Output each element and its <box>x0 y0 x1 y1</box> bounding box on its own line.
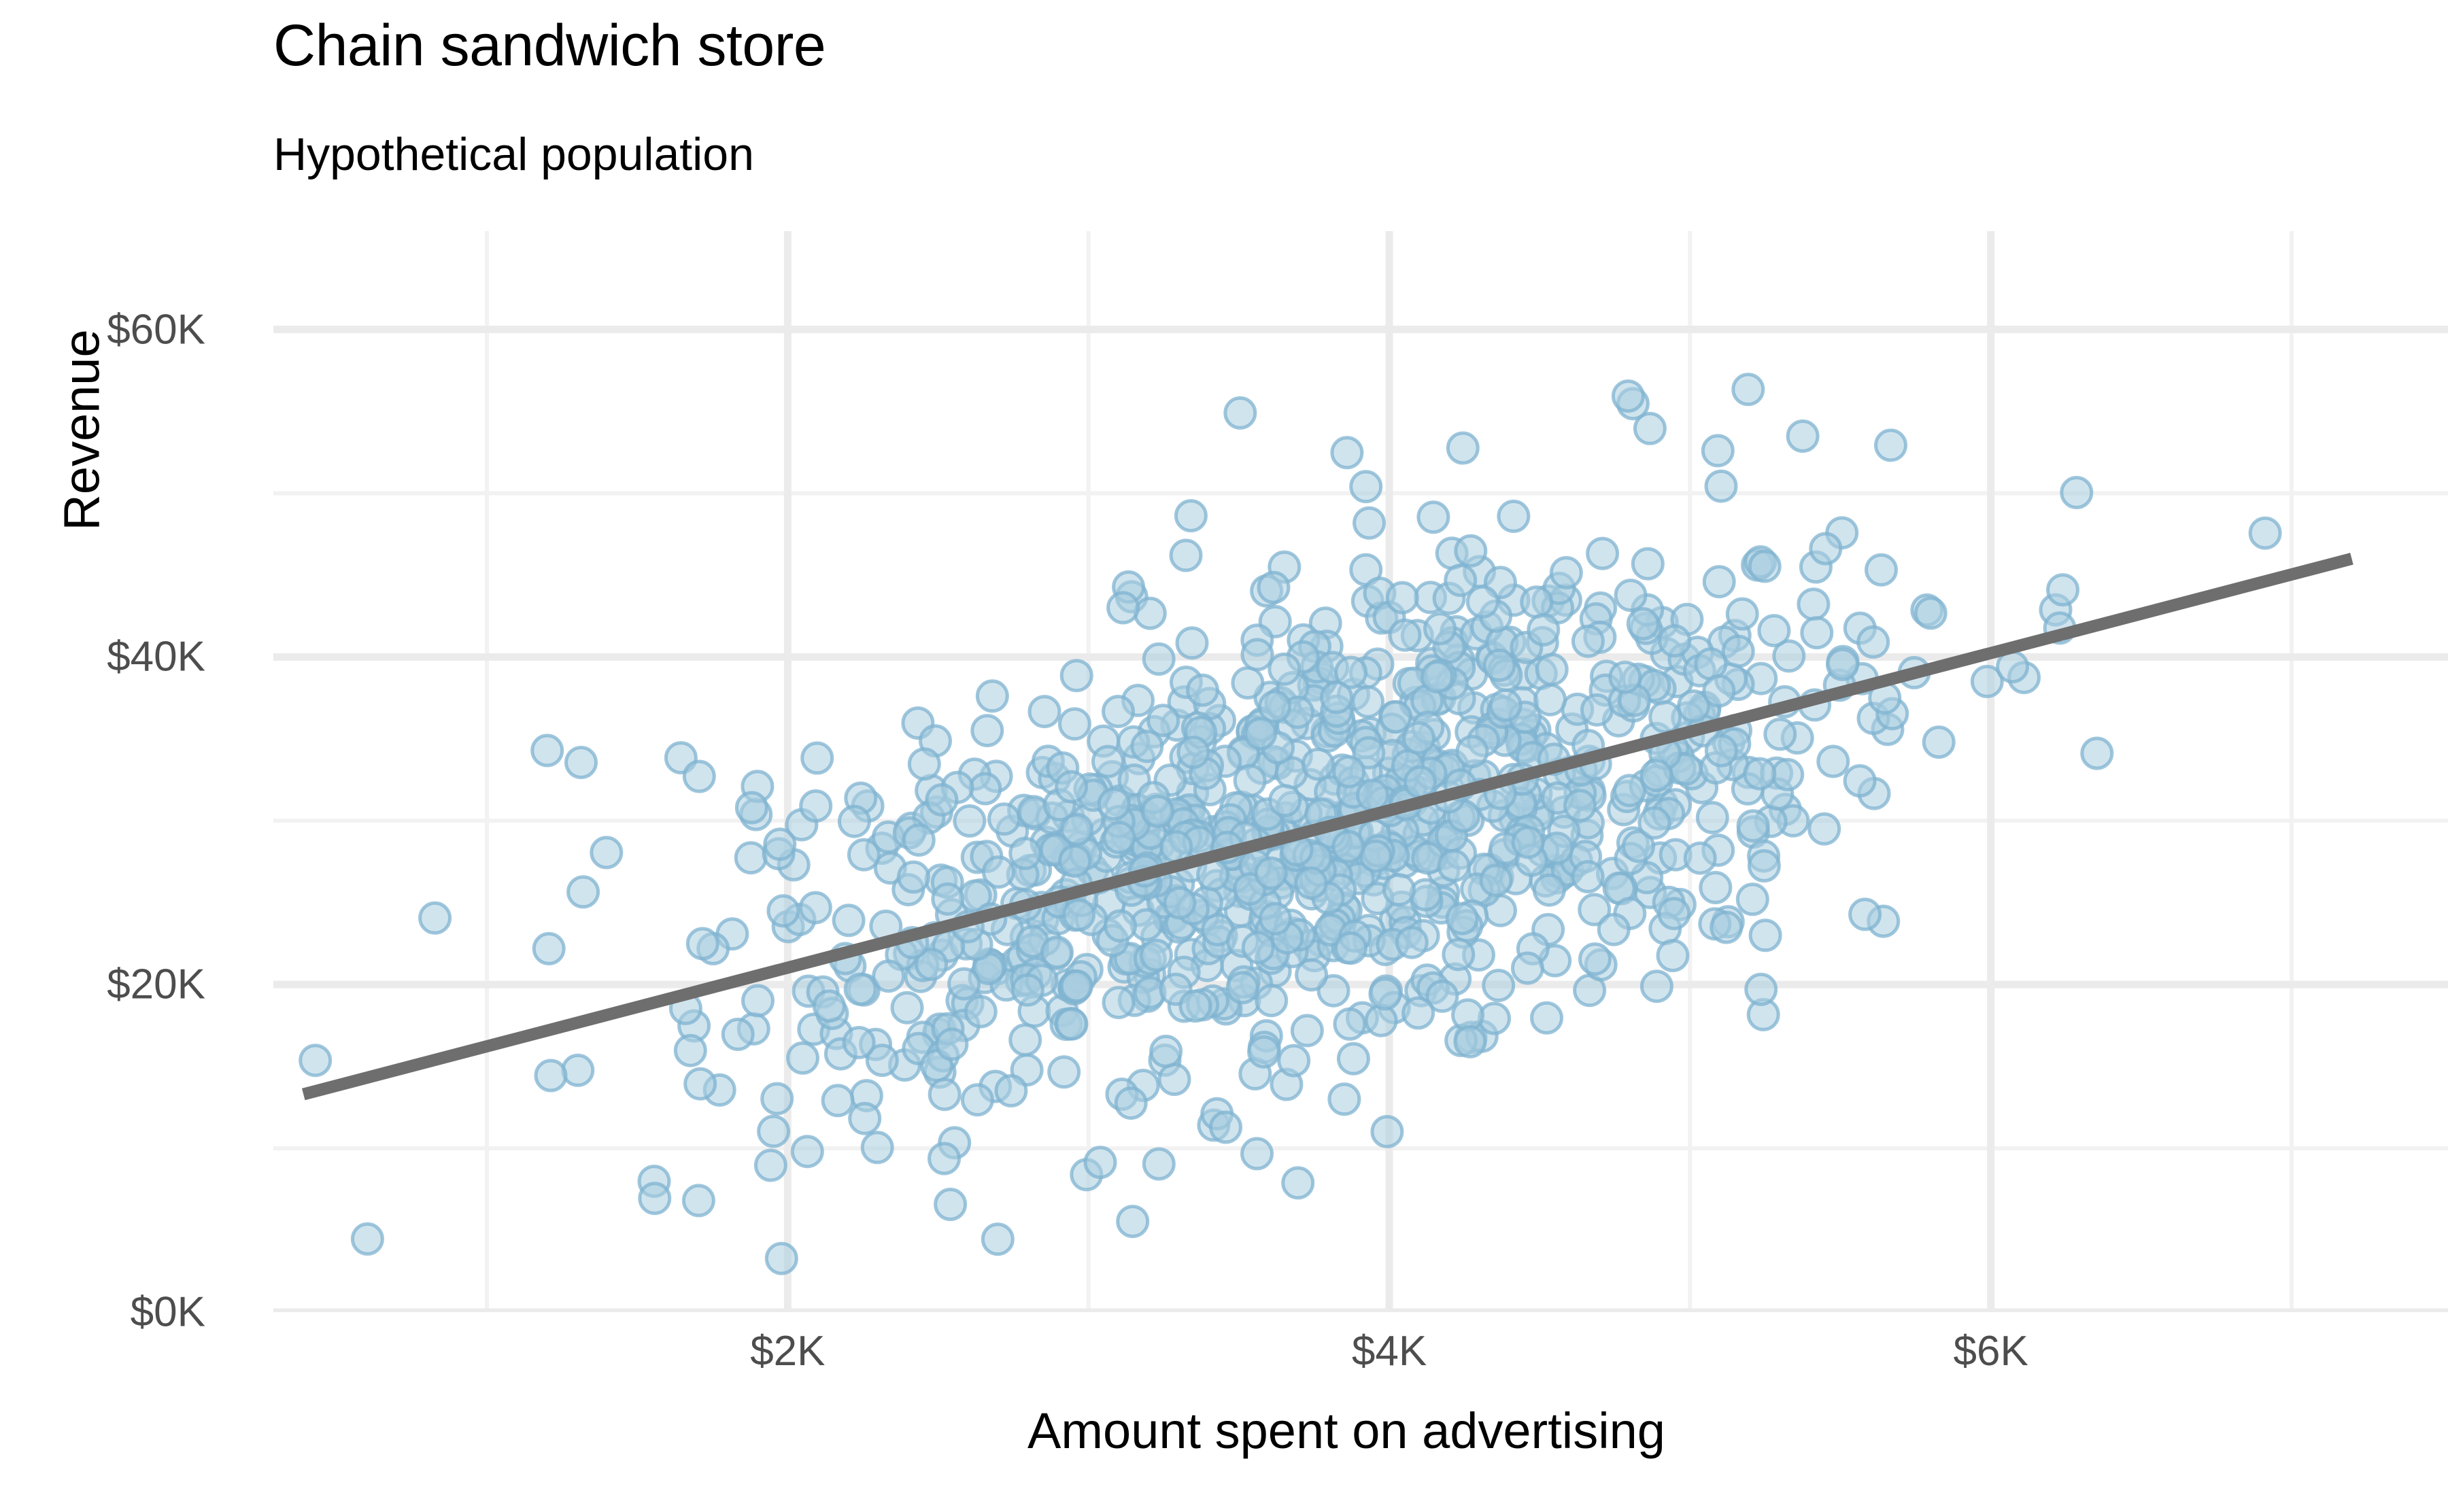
scatter-point <box>966 997 996 1027</box>
scatter-point <box>1818 746 1848 776</box>
scatter-point <box>1628 609 1658 639</box>
scatter-point <box>1799 589 1829 619</box>
scatter-point <box>1108 593 1138 623</box>
scatter-point <box>1750 921 1780 950</box>
y-tick-label: $40K <box>1 633 205 681</box>
scatter-point <box>1491 690 1520 720</box>
scatter-point <box>1010 838 1040 868</box>
scatter-point <box>534 933 564 963</box>
scatter-point <box>1658 941 1688 971</box>
scatter-point <box>1243 933 1273 963</box>
scatter-point <box>1104 823 1134 853</box>
scatter-point <box>1588 538 1618 568</box>
scatter-point <box>1706 736 1736 766</box>
scatter-point <box>1361 841 1391 871</box>
y-axis-title: Revenue <box>53 0 111 879</box>
scatter-point <box>1418 502 1448 532</box>
scatter-point <box>1085 1148 1115 1178</box>
scatter-point <box>1811 534 1841 564</box>
scatter-point <box>2082 738 2112 768</box>
scatter-point <box>1615 776 1645 806</box>
scatter-point <box>1335 1009 1365 1039</box>
scatter-point <box>1142 940 1172 970</box>
scatter-point <box>1850 899 1880 929</box>
scatter-point <box>759 1116 789 1146</box>
scatter-point <box>1484 650 1514 680</box>
scatter-point <box>1225 398 1255 428</box>
scatter-point <box>1446 566 1476 596</box>
scatter-point <box>685 1069 715 1099</box>
scatter-point <box>1599 914 1629 944</box>
scatter-point <box>962 1085 992 1115</box>
scatter-point <box>1706 471 1736 501</box>
scatter-point <box>1233 668 1263 698</box>
scatter-point <box>1049 1057 1079 1087</box>
scatter-point <box>1180 991 1210 1021</box>
scatter-point <box>930 1080 959 1110</box>
scatter-point <box>1633 549 1663 579</box>
scatter-point <box>1529 615 1559 645</box>
scatter-point <box>1696 649 1726 679</box>
scatter-point <box>1534 875 1564 905</box>
scatter-point <box>1292 1016 1322 1046</box>
scatter-point <box>1176 501 1206 531</box>
scatter-point <box>1116 1088 1146 1118</box>
scatter-point <box>1093 746 1123 776</box>
scatter-point <box>1737 884 1767 914</box>
scatter-point <box>743 986 773 1016</box>
scatter-point <box>1750 551 1780 581</box>
scatter-point <box>1296 868 1326 898</box>
scatter-point <box>1372 1117 1402 1147</box>
scatter-point <box>1256 858 1286 888</box>
scatter-points <box>301 375 2280 1273</box>
scatter-point <box>1358 780 1388 810</box>
scatter-point <box>1444 940 1474 969</box>
scatter-point <box>1697 803 1727 833</box>
scatter-point <box>1456 536 1486 566</box>
scatter-point <box>1260 691 1290 721</box>
scatter-point <box>788 1043 818 1073</box>
scatter-point <box>1099 789 1129 819</box>
scatter-point <box>972 716 1002 746</box>
scatter-point <box>850 1103 880 1133</box>
scatter-point <box>1353 687 1383 717</box>
scatter-point <box>1355 508 1384 538</box>
scatter-point <box>2062 478 2092 508</box>
scatter-point <box>1104 988 1134 1018</box>
scatter-point <box>1642 761 1671 791</box>
scatter-point <box>936 1190 966 1220</box>
scatter-point <box>845 974 875 1004</box>
scatter-point <box>1132 732 1162 761</box>
x-axis-title: Amount spent on advertising <box>0 1402 2448 1460</box>
scatter-point <box>1010 1025 1040 1055</box>
scatter-point <box>1448 433 1478 463</box>
scatter-point <box>1260 904 1290 933</box>
scatter-point <box>862 1133 892 1163</box>
scatter-point <box>1151 1036 1181 1066</box>
scatter-point <box>1580 944 1610 974</box>
scatter-point <box>1060 846 1090 876</box>
scatter-point <box>1338 1044 1368 1073</box>
page-title: Chain sandwich store <box>273 12 826 80</box>
scatter-point <box>839 806 869 836</box>
scatter-point <box>955 806 985 836</box>
scatter-point <box>1616 581 1646 611</box>
plot-canvas <box>273 231 2448 1312</box>
scatter-point <box>1481 865 1511 895</box>
scatter-point <box>1439 850 1469 880</box>
scatter-point <box>1422 662 1452 692</box>
scatter-point <box>1745 759 1775 789</box>
scatter-point <box>1425 614 1455 644</box>
scatter-point <box>1104 697 1134 727</box>
scatter-point <box>1916 598 1945 628</box>
scatter-point <box>874 961 904 991</box>
scatter-point <box>1660 626 1690 656</box>
scatter-point <box>1329 1084 1359 1114</box>
scatter-point <box>1773 759 1803 789</box>
scatter-point <box>1685 843 1715 873</box>
scatter-point <box>1188 675 1218 705</box>
scatter-point <box>1144 644 1174 674</box>
scatter-point <box>904 825 934 855</box>
scatter-point <box>1257 986 1287 1016</box>
scatter-point <box>1259 572 1289 602</box>
scatter-point <box>723 1019 753 1049</box>
scatter-point <box>802 743 832 773</box>
scatter-point <box>536 1061 566 1090</box>
scatter-point <box>1143 797 1173 827</box>
scatter-point <box>1537 655 1567 685</box>
scatter-point <box>1447 904 1477 933</box>
scatter-point <box>1059 709 1089 739</box>
scatter-point <box>1366 1006 1396 1035</box>
scatter-point <box>687 929 717 959</box>
scatter-point <box>1512 953 1542 983</box>
scatter-point <box>1573 626 1603 656</box>
scatter-point <box>1211 1112 1241 1142</box>
x-tick-label: $6K <box>1953 1327 2028 1375</box>
scatter-point <box>2250 518 2280 548</box>
scatter-point <box>1249 1037 1279 1067</box>
scatter-point <box>844 1028 874 1058</box>
scatter-point <box>983 857 1013 887</box>
x-tick-label: $4K <box>1352 1327 1427 1375</box>
scatter-point <box>1712 912 1741 942</box>
scatter-point <box>1404 723 1433 753</box>
scatter-point <box>892 993 922 1023</box>
y-tick-label: $60K <box>1 305 205 354</box>
scatter-point <box>800 893 830 923</box>
scatter-point <box>1405 767 1435 797</box>
scatter-point <box>977 681 1007 711</box>
scatter-point <box>1759 616 1789 646</box>
scatter-point <box>937 1029 967 1059</box>
scatter-point <box>898 862 928 892</box>
scatter-point <box>792 1137 822 1167</box>
scatter-point <box>1642 972 1671 1001</box>
scatter-point <box>823 1086 853 1116</box>
scatter-point <box>675 1035 705 1065</box>
scatter-point <box>420 903 450 933</box>
scatter-point <box>1828 649 1858 679</box>
scatter-point <box>1336 933 1366 963</box>
scatter-point <box>1030 697 1059 727</box>
scatter-point <box>2048 575 2078 605</box>
scatter-point <box>1723 636 1753 666</box>
scatter-point <box>1410 880 1440 910</box>
plot-panel <box>273 231 2448 1312</box>
scatter-point <box>1659 899 1689 929</box>
scatter-point <box>1499 501 1529 531</box>
scatter-point <box>1738 811 1768 841</box>
scatter-point <box>768 896 798 926</box>
scatter-point <box>1061 971 1091 1001</box>
scatter-point <box>755 1150 785 1180</box>
chart-subtitle: Hypothetical population <box>273 128 754 181</box>
scatter-point <box>1303 749 1333 779</box>
scatter-point <box>1064 900 1094 930</box>
scatter-point <box>1235 766 1265 795</box>
scatter-point <box>1270 654 1299 684</box>
scatter-point <box>592 838 622 867</box>
scatter-point <box>1802 618 1832 648</box>
scatter-point <box>1746 974 1776 1004</box>
scatter-point <box>927 785 957 815</box>
scatter-point <box>1551 557 1581 587</box>
scatter-point <box>762 1084 792 1114</box>
scatter-point <box>1404 998 1433 1028</box>
scatter-point <box>1061 661 1091 691</box>
scatter-point <box>1733 375 1763 405</box>
scatter-point <box>933 884 963 914</box>
scatter-point <box>640 1184 670 1214</box>
scatter-point <box>1522 587 1552 617</box>
scatter-point <box>909 749 939 779</box>
scatter-point <box>1144 1149 1174 1179</box>
scatter-point <box>1387 583 1417 613</box>
scatter-point <box>1532 1003 1562 1033</box>
scatter-point <box>532 736 562 766</box>
scatter-point <box>736 843 766 873</box>
scatter-point <box>568 877 598 907</box>
scatter-point <box>1333 831 1363 861</box>
scatter-point <box>1639 808 1669 838</box>
scatter-point <box>684 761 714 791</box>
scatter-point <box>1610 662 1640 692</box>
scatter-point <box>1384 875 1414 905</box>
scatter-point <box>1613 381 1643 411</box>
scatter-point <box>1867 555 1897 585</box>
scatter-point <box>1242 640 1272 670</box>
scatter-point <box>1171 540 1201 570</box>
scatter-point <box>970 774 1000 804</box>
scatter-point <box>1845 766 1875 796</box>
scatter-point <box>1118 1207 1148 1237</box>
scatter-point <box>834 906 864 935</box>
scatter-point <box>989 804 1019 834</box>
scatter-point <box>1270 786 1300 816</box>
scatter-point <box>1178 738 1208 768</box>
scatter-point <box>1013 975 1042 1005</box>
scatter-point <box>1057 772 1087 802</box>
scatter-point <box>1279 1046 1309 1076</box>
scatter-point <box>1573 862 1603 892</box>
scatter-point <box>765 829 795 859</box>
scatter-point <box>1227 973 1257 1003</box>
scatter-point <box>1397 927 1427 957</box>
scatter-point <box>1701 873 1731 903</box>
scatter-point <box>1876 430 1906 460</box>
scatter-point <box>766 1243 796 1273</box>
scatter-point <box>1106 911 1136 941</box>
scatter-point <box>1703 436 1733 466</box>
scatter-point <box>1334 757 1364 787</box>
y-tick-label: $20K <box>1 961 205 1009</box>
x-axis-title-text: Amount spent on advertising <box>783 1403 1665 1459</box>
scatter-point <box>814 991 844 1021</box>
scatter-point <box>1370 979 1400 1009</box>
scatter-point <box>563 1055 593 1085</box>
scatter-point <box>1455 1027 1485 1056</box>
scatter-point <box>1565 791 1595 821</box>
scatter-point <box>1704 676 1734 706</box>
scatter-chart: Chain sandwich store Hypothetical popula… <box>0 0 2448 1512</box>
scatter-point <box>1513 827 1543 857</box>
scatter-point <box>1390 620 1420 650</box>
scatter-point <box>1351 472 1381 502</box>
scatter-point <box>1924 727 1954 757</box>
scatter-point <box>1704 567 1734 597</box>
scatter-point <box>1765 719 1795 749</box>
scatter-point <box>736 793 766 823</box>
scatter-point <box>1484 970 1514 1000</box>
scatter-point <box>949 969 979 999</box>
scatter-point <box>1283 1168 1313 1198</box>
scatter-point <box>566 748 596 778</box>
scatter-point <box>1650 702 1680 732</box>
x-tick-label: $2K <box>750 1327 825 1375</box>
scatter-point <box>1809 814 1839 844</box>
scatter-point <box>801 791 831 821</box>
scatter-point <box>352 1224 382 1254</box>
scatter-point <box>1177 628 1207 658</box>
scatter-point <box>1457 737 1487 767</box>
scatter-point <box>930 1144 959 1173</box>
scatter-point <box>1749 851 1779 881</box>
scatter-point <box>1727 599 1757 629</box>
scatter-point <box>683 1186 713 1216</box>
scatter-point <box>1246 719 1276 749</box>
scatter-point <box>1135 598 1165 628</box>
y-tick-label: $0K <box>1 1288 205 1337</box>
scatter-point <box>1332 438 1362 468</box>
scatter-point <box>1159 1065 1189 1095</box>
scatter-point <box>1165 888 1195 918</box>
scatter-point <box>996 1076 1026 1105</box>
scatter-point <box>1858 627 1888 657</box>
scatter-point <box>983 1224 1013 1254</box>
scatter-point <box>1242 1139 1272 1169</box>
scatter-point <box>1582 695 1612 725</box>
scatter-point <box>1788 422 1818 451</box>
scatter-point <box>301 1046 330 1076</box>
scatter-point <box>1042 938 1072 967</box>
scatter-point <box>1322 683 1352 712</box>
scatter-point <box>1057 1009 1087 1039</box>
